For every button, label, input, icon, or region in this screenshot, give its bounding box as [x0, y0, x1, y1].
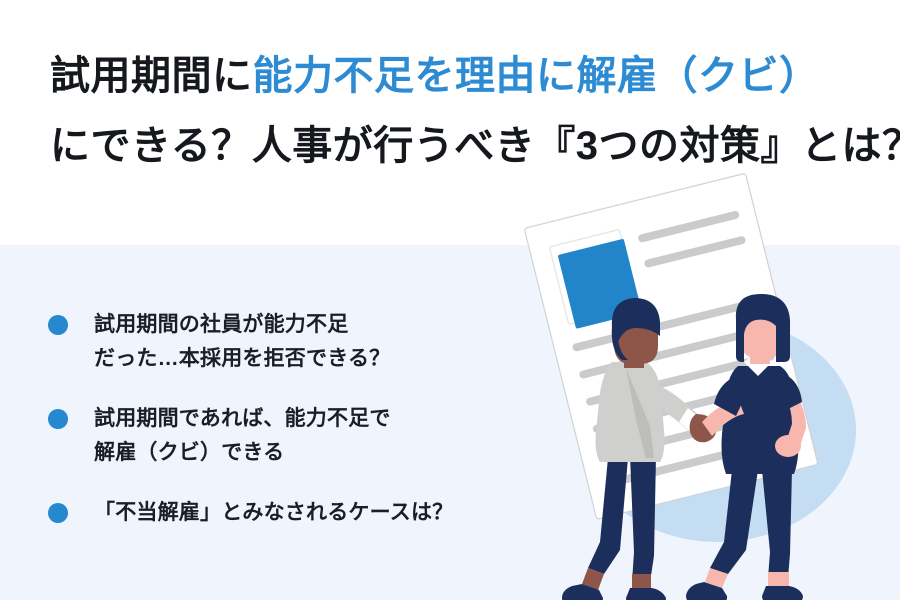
bullet-dot-icon [48, 409, 68, 429]
list-item: 「不当解雇」とみなされるケースは？ [48, 496, 518, 530]
page-title: 試用期間に能力不足を理由に解雇（クビ） にできる？人事が行うべき『3つの対策』と… [50, 50, 880, 172]
bullet-item-text: 試用期間であれば、能力不足で 解雇（クビ）できる [94, 402, 391, 470]
bullet-line-2: だった…本採用を拒否できる？ [94, 342, 390, 376]
article-header-banner: 試用期間に能力不足を理由に解雇（クビ） にできる？人事が行うべき『3つの対策』と… [0, 0, 900, 600]
person-right-hand-hip [775, 435, 801, 457]
person-left-front-ankle [632, 574, 651, 590]
bullet-list: 試用期間の社員が能力不足 だった…本採用を拒否できる？ 試用期間であれば、能力不… [48, 308, 518, 530]
title-line-1-accent: 能力不足を理由に解雇（クビ） [253, 54, 820, 98]
bullet-dot-icon [48, 503, 68, 523]
person-left-front-shoe [626, 588, 666, 600]
person-left-jacket [596, 362, 665, 462]
title-line-1: 試用期間に能力不足を理由に解雇（クビ） [50, 50, 880, 102]
title-line-2: にできる？人事が行うべき『3つの対策』とは？ [50, 120, 880, 172]
person-right-right-shoe [762, 586, 803, 600]
bullet-line-2: 解雇（クビ）できる [94, 436, 391, 470]
bullet-item-text: 試用期間の社員が能力不足 だった…本採用を拒否できる？ [94, 308, 390, 376]
title-line-1-plain: 試用期間に [50, 54, 253, 98]
bullet-line-1: 「不当解雇」とみなされるケースは？ [94, 501, 453, 524]
handshake-illustration [500, 170, 900, 600]
bullet-dot-icon [48, 315, 68, 335]
person-right-right-ankle [768, 572, 789, 588]
bullet-item-text: 「不当解雇」とみなされるケースは？ [94, 496, 453, 530]
bullet-line-1: 試用期間であれば、能力不足で [94, 407, 391, 430]
list-item: 試用期間であれば、能力不足で 解雇（クビ）できる [48, 402, 518, 470]
bullet-line-1: 試用期間の社員が能力不足 [94, 313, 348, 336]
person-left-front-leg [630, 456, 656, 582]
list-item: 試用期間の社員が能力不足 だった…本採用を拒否できる？ [48, 308, 518, 376]
